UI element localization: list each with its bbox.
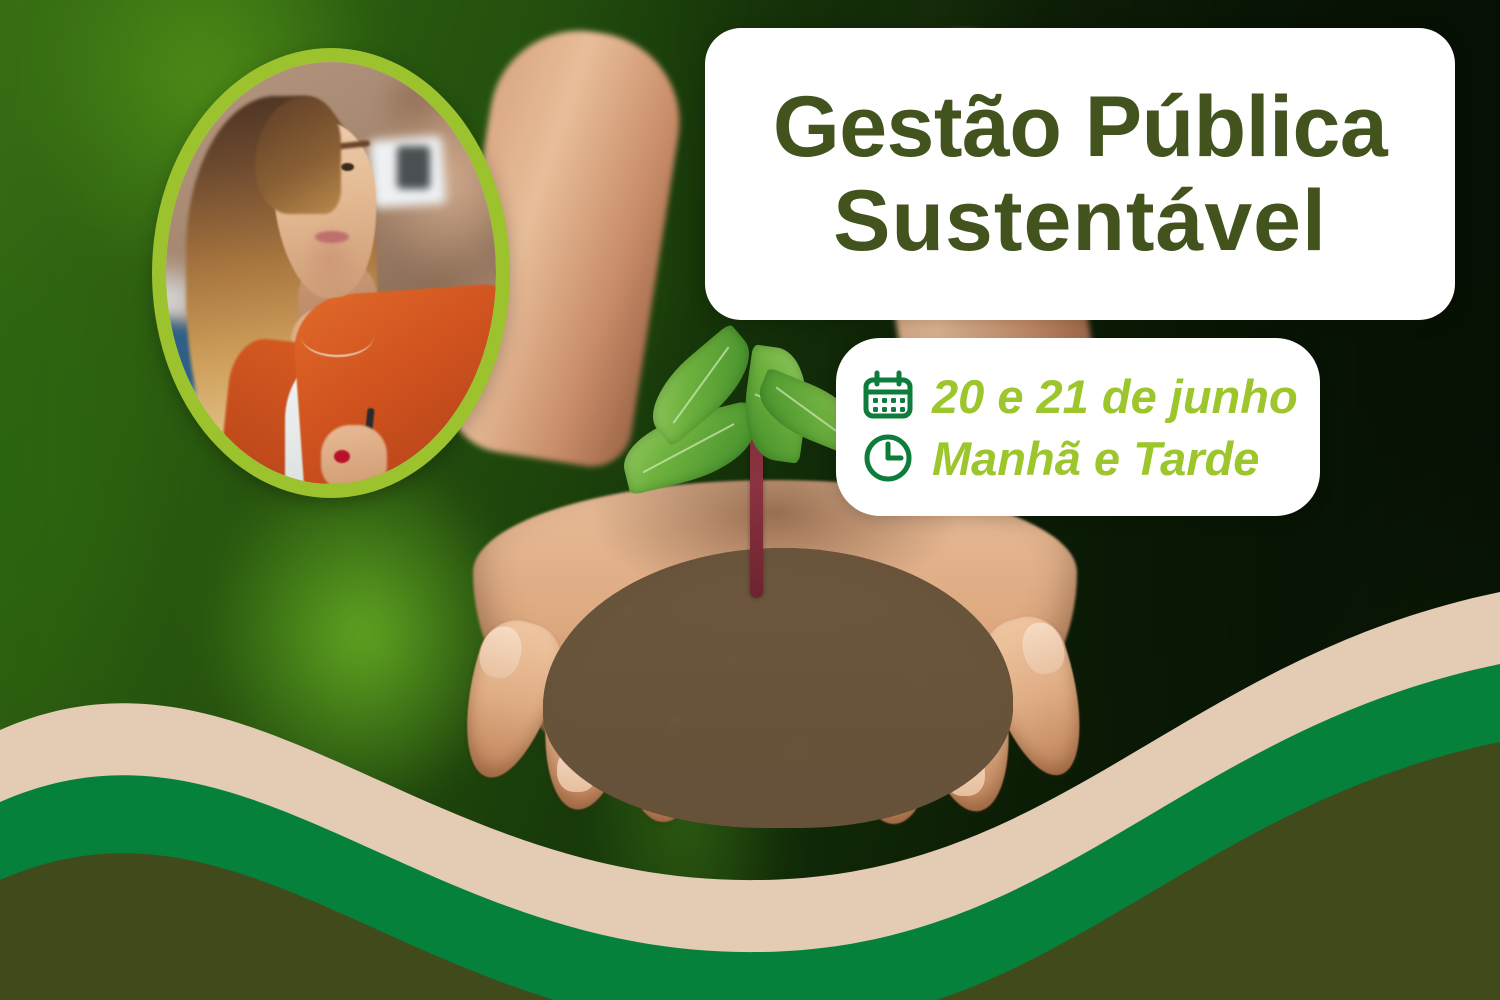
portrait-bg-shape bbox=[397, 146, 430, 188]
portrait-image bbox=[166, 62, 496, 484]
bottom-wave-decoration bbox=[0, 580, 1500, 1000]
calendar-icon bbox=[862, 370, 914, 422]
speaker-portrait bbox=[152, 48, 510, 498]
event-time-row: Manhã e Tarde bbox=[862, 432, 1294, 484]
title-line-2: Sustentável bbox=[833, 178, 1327, 264]
event-info-card: 20 e 21 de junho Manhã e Tarde bbox=[836, 338, 1320, 516]
portrait-hand bbox=[321, 425, 387, 484]
event-banner: Gestão Pública Sustentável bbox=[0, 0, 1500, 1000]
event-date-row: 20 e 21 de junho bbox=[862, 370, 1294, 422]
title-card: Gestão Pública Sustentável bbox=[705, 28, 1455, 320]
clock-icon bbox=[862, 432, 914, 484]
title-line-1: Gestão Pública bbox=[773, 84, 1387, 170]
portrait-lips bbox=[315, 231, 349, 243]
event-time-text: Manhã e Tarde bbox=[932, 435, 1259, 482]
event-date-text: 20 e 21 de junho bbox=[932, 373, 1298, 420]
